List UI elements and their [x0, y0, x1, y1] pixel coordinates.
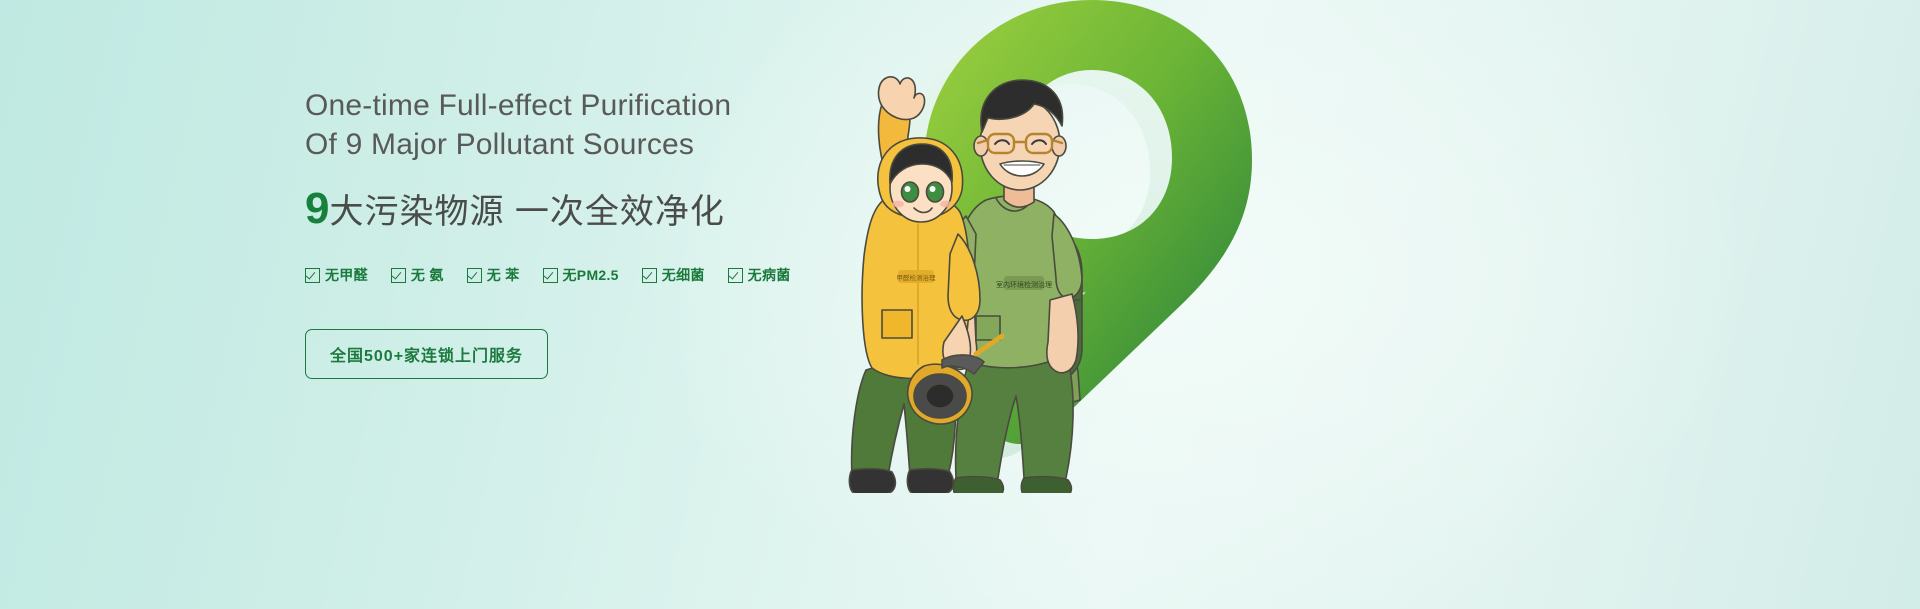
checkbox-checked-icon — [391, 268, 406, 283]
feature-item-4: 无细菌 — [642, 265, 705, 285]
feature-label: 无 苯 — [487, 265, 520, 285]
feature-item-5: 无病菌 — [728, 265, 791, 285]
feature-item-1: 无 氨 — [391, 265, 444, 285]
headline-chinese-text: 大污染物源 一次全效净化 — [329, 195, 724, 229]
headline-chinese: 9 大污染物源 一次全效净化 — [305, 187, 1025, 231]
feature-label: 无PM2.5 — [563, 265, 619, 285]
feature-item-0: 无甲醛 — [305, 265, 368, 285]
headline-english: One-time Full-effect Purification Of 9 M… — [305, 86, 1025, 164]
headline-number: 9 — [305, 187, 328, 231]
feature-label: 无细菌 — [662, 265, 705, 285]
copy-block: One-time Full-effect Purification Of 9 M… — [305, 86, 1025, 379]
feature-label: 无病菌 — [748, 265, 791, 285]
checkbox-checked-icon — [543, 268, 558, 283]
promo-banner: 室内环境检测治理 — [0, 0, 1920, 609]
nationwide-service-button[interactable]: 全国500+家连锁上门服务 — [305, 329, 548, 379]
feature-item-2: 无 苯 — [467, 265, 520, 285]
checkbox-checked-icon — [642, 268, 657, 283]
checkbox-checked-icon — [467, 268, 482, 283]
feature-label: 无甲醛 — [325, 265, 368, 285]
feature-list: 无甲醛 无 氨 无 苯 无PM2.5 无细菌 无病菌 — [305, 265, 1025, 285]
checkbox-checked-icon — [728, 268, 743, 283]
checkbox-checked-icon — [305, 268, 320, 283]
feature-label: 无 氨 — [411, 265, 444, 285]
feature-item-3: 无PM2.5 — [543, 265, 619, 285]
